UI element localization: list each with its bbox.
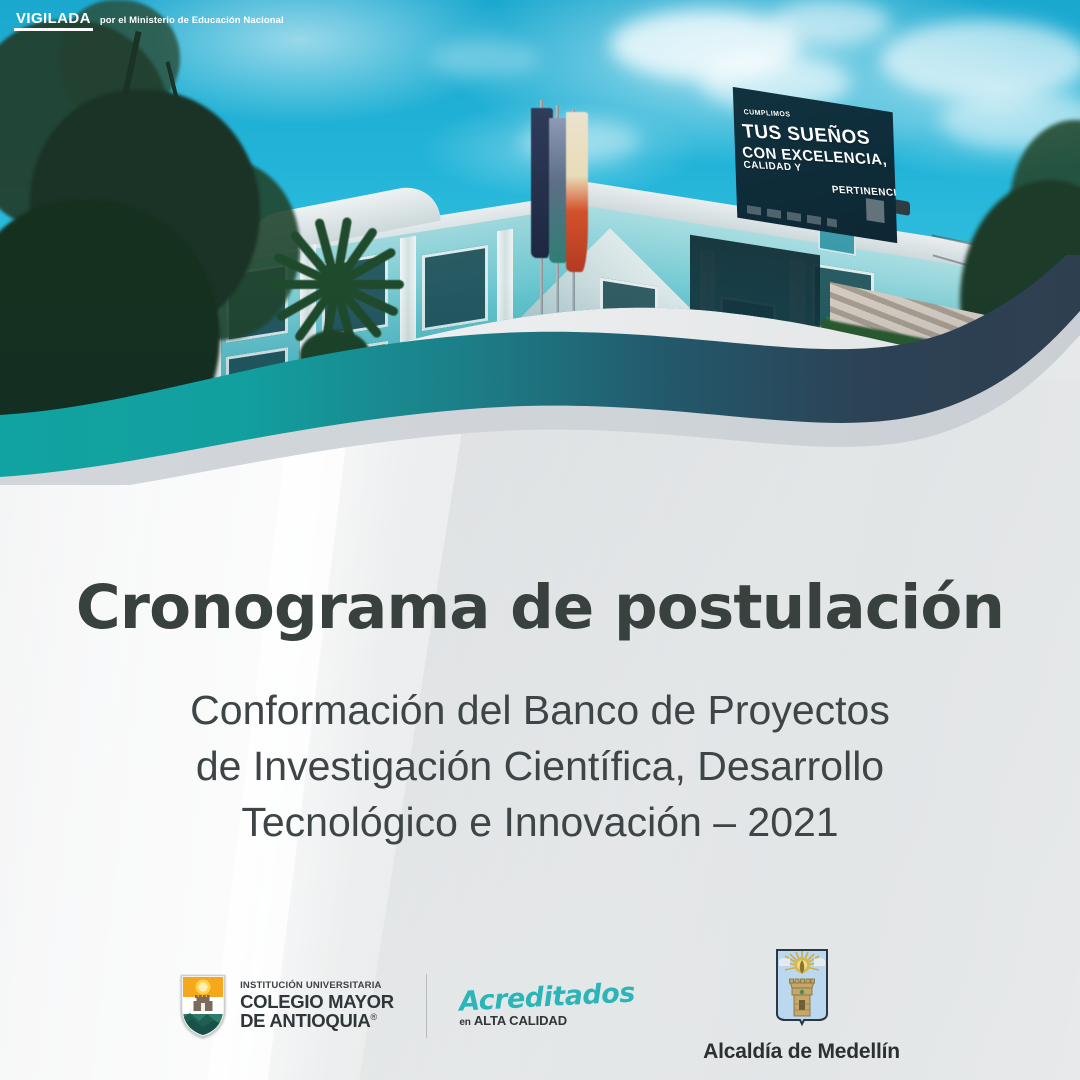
footer-logos: INSTITUCIÓN UNIVERSITARIA COLEGIO MAYOR … [0,946,1080,1066]
cm-line-3: DE ANTIOQUIA® [240,1012,394,1031]
colegio-mayor-shield-icon [180,974,226,1038]
wave-divider [0,255,1080,485]
page-title: Cronograma de postulación [0,572,1080,643]
poster-canvas: CUMPLIMOS TUS SUEÑOS CON EXCELENCIA, CAL… [0,0,1080,1080]
vigilada-rest: por el Ministerio de Educación Nacional [100,15,284,26]
wave-color-band [0,255,1080,477]
page-subtitle: Conformación del Banco de Proyectos de I… [70,683,1010,850]
vigilada-notice: VIGILADA por el Ministerio de Educación … [14,11,284,31]
subtitle-line-2: de Investigación Científica, Desarrollo [70,739,1010,795]
colegio-mayor-logo: INSTITUCIÓN UNIVERSITARIA COLEGIO MAYOR … [180,974,635,1038]
colegio-mayor-wordmark: INSTITUCIÓN UNIVERSITARIA COLEGIO MAYOR … [240,981,394,1030]
registered-mark: ® [370,1012,376,1022]
logo-divider [426,974,428,1038]
subtitle-line-1: Conformación del Banco de Proyectos [70,683,1010,739]
cm-line-1: INSTITUCIÓN UNIVERSITARIA [240,981,394,991]
subtitle-line-3: Tecnológico e Innovación – 2021 [70,795,1010,851]
alcaldia-label: Alcaldía de Medellín [703,1040,900,1064]
vigilada-word: VIGILADA [14,11,93,31]
acreditados-script: Acreditados [459,979,636,1015]
medellin-coat-of-arms-icon [773,948,831,1036]
alcaldia-medellin-logo: Alcaldía de Medellín [703,948,900,1064]
acreditados-logo: Acreditados en ALTA CALIDAD [459,984,635,1028]
